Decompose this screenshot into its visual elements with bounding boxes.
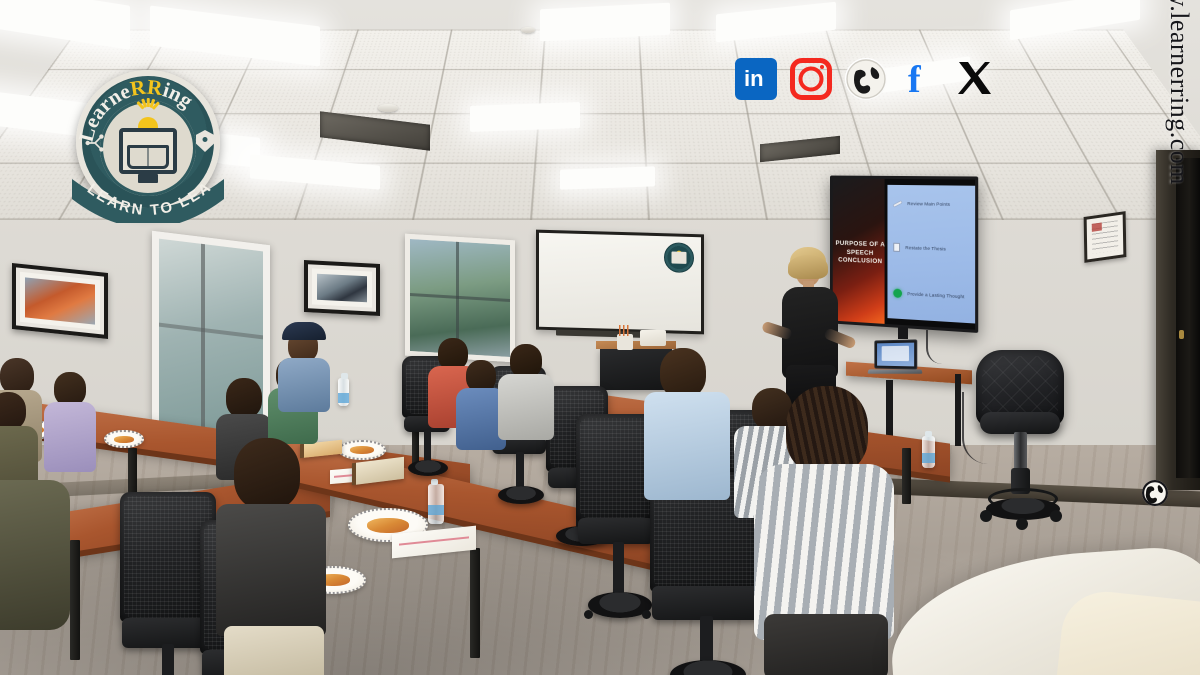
x-twitter-icon[interactable] — [955, 58, 997, 100]
chair-seat — [578, 518, 654, 544]
chair-caster — [1050, 510, 1062, 522]
student-head — [234, 438, 300, 510]
presenter-laptop — [868, 340, 920, 380]
globe-icon — [1142, 480, 1168, 506]
certificate-seal — [1092, 222, 1102, 231]
globe-icon[interactable] — [845, 58, 887, 100]
paper-plate — [104, 430, 144, 448]
student-body — [0, 480, 70, 630]
ceiling-light-panel — [560, 166, 655, 189]
bottle-label — [922, 453, 935, 463]
tissue-box — [640, 330, 666, 346]
chair-post — [613, 542, 624, 598]
laptop-screen — [874, 339, 917, 369]
ceiling-light-panel — [540, 3, 670, 42]
wall-mounted-tv: Purpose of a Speech Conclusion Review Ma… — [830, 176, 978, 333]
check-swoosh-icon — [894, 199, 903, 208]
chair-post — [424, 430, 431, 464]
x-logo-glyph — [955, 58, 995, 98]
globe-continents — [1142, 480, 1168, 506]
linkedin-icon[interactable]: in — [735, 58, 777, 100]
laptop-keyboard — [867, 369, 922, 373]
chair-base — [408, 460, 448, 476]
laptop-window — [882, 346, 909, 362]
food-items — [350, 446, 375, 454]
utensils — [619, 325, 630, 336]
ceiling-light-panel — [470, 102, 580, 132]
chair-caster — [980, 510, 992, 522]
food-items — [114, 436, 134, 443]
student-shorts — [224, 626, 324, 675]
drafting-chair — [972, 350, 1068, 532]
door-knob[interactable] — [1179, 330, 1184, 339]
chair-mesh — [124, 496, 212, 618]
classroom-photo: Purpose of a Speech Conclusion Review Ma… — [0, 0, 1200, 675]
aircraft-artwork — [317, 274, 367, 303]
student-body — [644, 392, 730, 500]
chair-caster — [1016, 518, 1028, 530]
food-items — [367, 518, 410, 533]
smoke-detector-icon — [378, 104, 398, 112]
slide-body: Review Main Points Restate the Thesis Pr… — [888, 185, 975, 324]
student-shorts — [764, 614, 888, 675]
website-url: www.learnerring.com — [1164, 0, 1194, 185]
window-mullion — [410, 293, 510, 302]
framed-helicopter-photo — [12, 263, 108, 339]
bottle-label — [338, 393, 349, 403]
whiteboard — [536, 230, 704, 335]
student-head — [0, 358, 34, 394]
monitor-icon — [672, 251, 687, 263]
social-icons-bar: in f — [735, 58, 997, 100]
chair-post — [162, 644, 174, 675]
water-bottle — [428, 484, 444, 524]
facebook-label: f — [908, 60, 921, 100]
facebook-icon[interactable]: f — [900, 58, 942, 100]
drafting-chair-seat — [980, 412, 1060, 434]
table-leg — [902, 448, 911, 504]
slide-bullet-label: Provide a Lasting Thought — [907, 291, 964, 299]
open-doorway — [1176, 158, 1200, 478]
linkedin-label: in — [744, 69, 764, 89]
student-head — [0, 392, 26, 430]
water-bottle — [922, 436, 935, 468]
helicopter-artwork — [25, 277, 95, 324]
slide-bullet: Provide a Lasting Thought — [894, 288, 965, 301]
student-head — [510, 344, 542, 378]
table-leg — [70, 540, 80, 660]
chair-mesh — [580, 418, 650, 518]
utensil-cup — [617, 334, 633, 350]
student-head — [660, 348, 706, 398]
tv-wall-mount — [898, 327, 908, 339]
water-bottle — [338, 378, 349, 406]
logo-tagline-banner: LEARN TO LEAD — [68, 165, 228, 223]
instagram-icon[interactable] — [790, 58, 832, 100]
student-head — [226, 378, 262, 418]
quilted-pattern — [982, 356, 1058, 420]
slide-bullet-label: Restate the Thesis — [905, 245, 946, 251]
student-head — [786, 386, 868, 474]
paper-plate — [338, 440, 386, 460]
framed-plane-photo — [304, 260, 380, 316]
presenter-hair — [788, 255, 828, 279]
network-node-icon — [84, 132, 106, 154]
napkin-stripe — [399, 536, 470, 545]
chair-caster — [642, 610, 651, 619]
globe-continents — [845, 58, 887, 100]
student-body — [216, 504, 326, 636]
chair-caster — [584, 610, 593, 619]
framed-certificate — [1084, 211, 1127, 263]
student-body — [278, 358, 330, 412]
drafting-chair-base — [986, 498, 1060, 520]
slide-bullet-label: Review Main Points — [907, 201, 950, 207]
baseball-cap-icon — [282, 322, 326, 340]
presenter-table-leg — [955, 374, 961, 446]
chair-back — [576, 414, 654, 522]
chair-base — [498, 486, 544, 504]
slide-bullet: Restate the Thesis — [894, 243, 946, 254]
presenter — [766, 247, 852, 407]
chair-seat — [652, 586, 760, 620]
whiteboard-logo-icon — [664, 242, 694, 273]
green-dot-icon — [894, 288, 903, 297]
document-icon — [894, 243, 901, 252]
slide-bullet: Review Main Points — [894, 199, 950, 209]
smoke-detector-icon — [521, 27, 535, 33]
bottle-label — [428, 505, 444, 515]
student-head — [54, 372, 86, 406]
learnerring-logo: LearneRRing LEARN TO LEAD — [68, 70, 228, 225]
student-body — [498, 374, 554, 440]
student-body — [44, 402, 96, 472]
laptop-display — [877, 343, 914, 367]
table-leg — [470, 548, 480, 658]
